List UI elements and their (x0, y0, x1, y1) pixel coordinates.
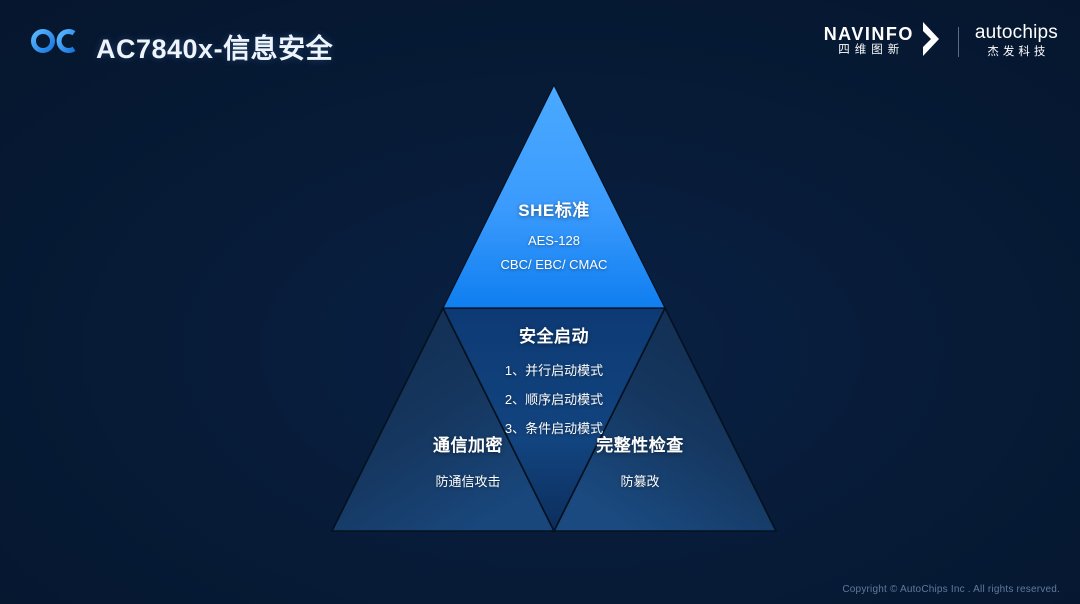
pyramid-middle-line-2: 2、顺序启动模式 (330, 389, 778, 408)
pyramid-top-labels: SHE标准 AES-128 CBC/ EBC/ CMAC (330, 196, 778, 281)
pyramid-top-line-2: CBC/ EBC/ CMAC (330, 257, 778, 272)
brand-divider (958, 27, 959, 57)
pyramid-middle-line-1: 1、并行启动模式 (330, 360, 778, 379)
autochips-logo: autochips 杰发科技 (975, 23, 1058, 60)
pyramid-bottom-right-heading: 完整性检查 (530, 431, 750, 456)
navinfo-logo: NAVINFO 四维图新 (824, 20, 942, 63)
pyramid-top-heading: SHE标准 (330, 196, 778, 221)
pyramid-top-line-1: AES-128 (330, 233, 778, 248)
navinfo-logo-text-cn: 四维图新 (838, 43, 904, 58)
navinfo-logo-text: NAVINFO (824, 25, 914, 44)
slide-header: AC7840x-信息安全 NAVINFO 四维图新 autochips 杰发科技 (0, 0, 1080, 82)
pyramid-middle-heading: 安全启动 (330, 322, 778, 347)
autochips-logo-text: autochips (975, 23, 1058, 44)
pyramid-diagram: SHE标准 AES-128 CBC/ EBC/ CMAC 安全启动 1、并行启动… (330, 83, 778, 533)
autochips-logo-text-cn: 杰发科技 (987, 44, 1049, 60)
page-title: AC7840x-信息安全 (96, 27, 333, 66)
copyright-text: Copyright © AutoChips Inc . All rights r… (842, 584, 1060, 595)
brand-bar: NAVINFO 四维图新 autochips 杰发科技 (824, 20, 1058, 63)
pyramid-middle-labels: 安全启动 1、并行启动模式 2、顺序启动模式 3、条件启动模式 (330, 322, 778, 447)
oc-logo-icon (30, 28, 80, 54)
pyramid-bottom-right-line-1: 防篡改 (530, 471, 750, 490)
slide-root: AC7840x-信息安全 NAVINFO 四维图新 autochips 杰发科技 (0, 0, 1080, 604)
pyramid-bottom-right-labels: 完整性检查 防篡改 (530, 431, 750, 490)
chevron-right-icon (920, 20, 942, 63)
